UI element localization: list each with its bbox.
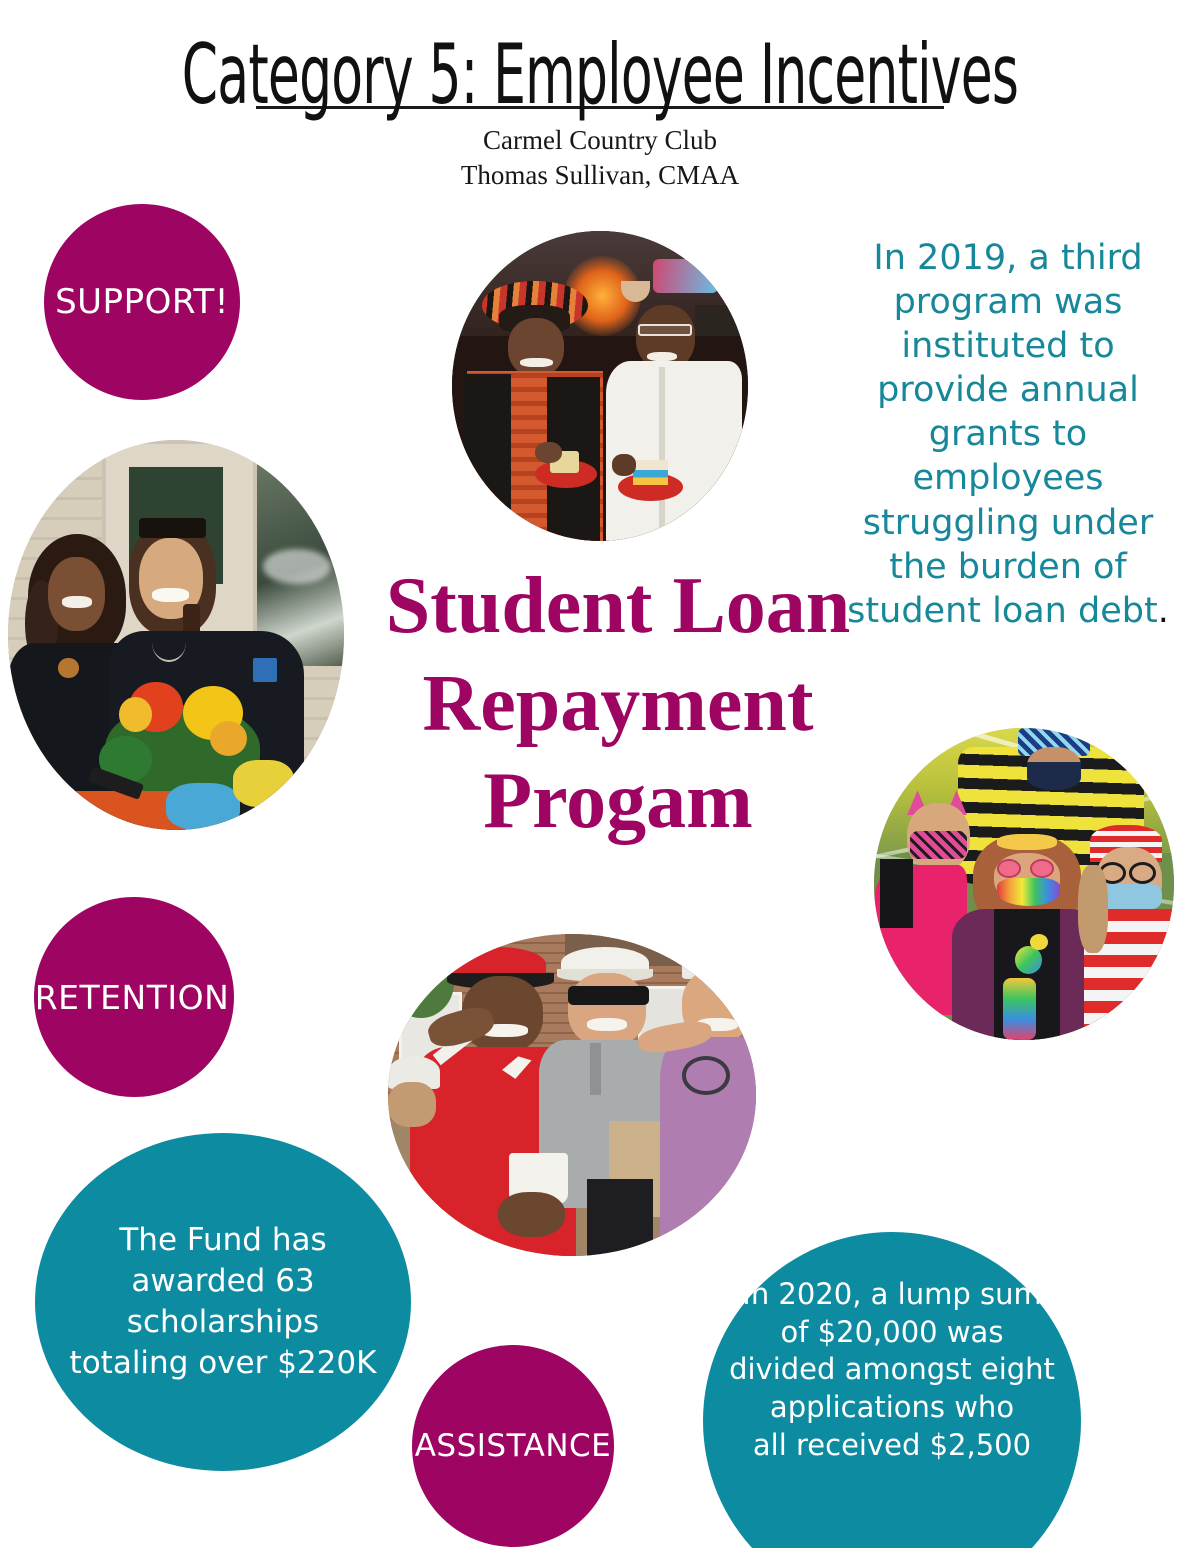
program-wordmark: Student Loan Repayment Progam	[358, 558, 878, 851]
badge-assistance-label: ASSISTANCE	[415, 1428, 612, 1464]
stat-lump-line-4: applications who	[770, 1389, 1014, 1427]
badge-retention: RETENTION	[34, 897, 234, 1097]
page-title: Category 5: Employee Incentives	[132, 0, 1068, 116]
presenter-name: Thomas Sullivan, CMAA	[0, 158, 1200, 193]
stat-scholarships-line-3: scholarships	[111, 1302, 335, 1343]
subtitle-block: Carmel Country Club Thomas Sullivan, CMA…	[0, 123, 1200, 193]
stat-scholarships-line-2: awarded 63	[115, 1261, 330, 1302]
stat-lump-line-3: divided amongst eight	[729, 1351, 1055, 1389]
badge-assistance: ASSISTANCE	[412, 1345, 614, 1547]
wordmark-line-1: Student Loan	[358, 558, 878, 656]
callout-text: In 2019, a third program was instituted …	[847, 238, 1158, 631]
stat-scholarships-line-4: totaling over $220K	[70, 1343, 377, 1384]
callout-period: .	[1158, 591, 1169, 631]
stat-scholarships-line-1: The Fund has	[103, 1220, 342, 1261]
stat-lump-line-5: all received $2,500	[753, 1427, 1031, 1465]
stat-circle-scholarships: The Fund has awarded 63 scholarships tot…	[35, 1133, 411, 1471]
badge-support: SUPPORT!	[44, 204, 240, 400]
wordmark-line-2: Repayment	[358, 656, 878, 754]
stat-lump-line-2: of $20,000 was	[781, 1314, 1004, 1352]
poster-canvas: Category 5: Employee Incentives Carmel C…	[0, 0, 1200, 1548]
badge-support-label: SUPPORT!	[55, 282, 229, 322]
photo-party-two-men-cake	[452, 231, 748, 541]
photo-two-chefs-flowers	[8, 440, 344, 830]
stat-lump-line-1: In 2020, a lump sum	[742, 1276, 1041, 1314]
photo-golf-outing-three-men	[388, 934, 756, 1256]
badge-retention-label: RETENTION	[35, 978, 230, 1017]
stat-circle-lump-sum: In 2020, a lump sum of $20,000 was divid…	[703, 1232, 1081, 1548]
callout-paragraph: In 2019, a third program was instituted …	[846, 236, 1170, 633]
club-name: Carmel Country Club	[0, 123, 1200, 158]
photo-halloween-group-costumes	[874, 728, 1174, 1040]
wordmark-line-3: Progam	[358, 753, 878, 851]
poster-header: Category 5: Employee Incentives Carmel C…	[0, 0, 1200, 193]
